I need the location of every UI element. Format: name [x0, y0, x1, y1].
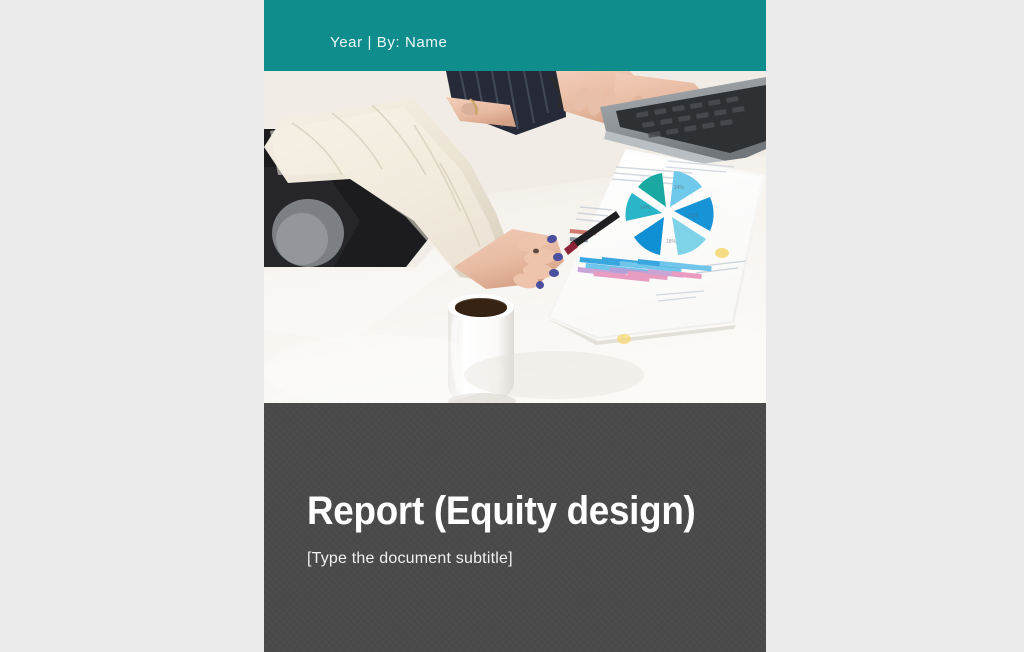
cover-header-band: Year | By: Name [264, 0, 766, 71]
svg-text:24%: 24% [674, 185, 685, 191]
cover-photo-illustration: 24% 31% 18% 14% [264, 71, 766, 403]
svg-text:31%: 31% [688, 213, 699, 219]
year-author-label: Year | By: Name [330, 34, 447, 51]
document-preview-viewport: Year | By: Name [0, 0, 1024, 652]
svg-text:14%: 14% [640, 205, 651, 211]
document-title: Report (Equity design) [307, 490, 696, 532]
document-subtitle-placeholder[interactable]: [Type the document subtitle] [307, 550, 513, 568]
document-cover-page: Year | By: Name [264, 0, 766, 652]
svg-text:18%: 18% [666, 239, 677, 245]
cover-photo: 24% 31% 18% 14% [264, 71, 766, 403]
